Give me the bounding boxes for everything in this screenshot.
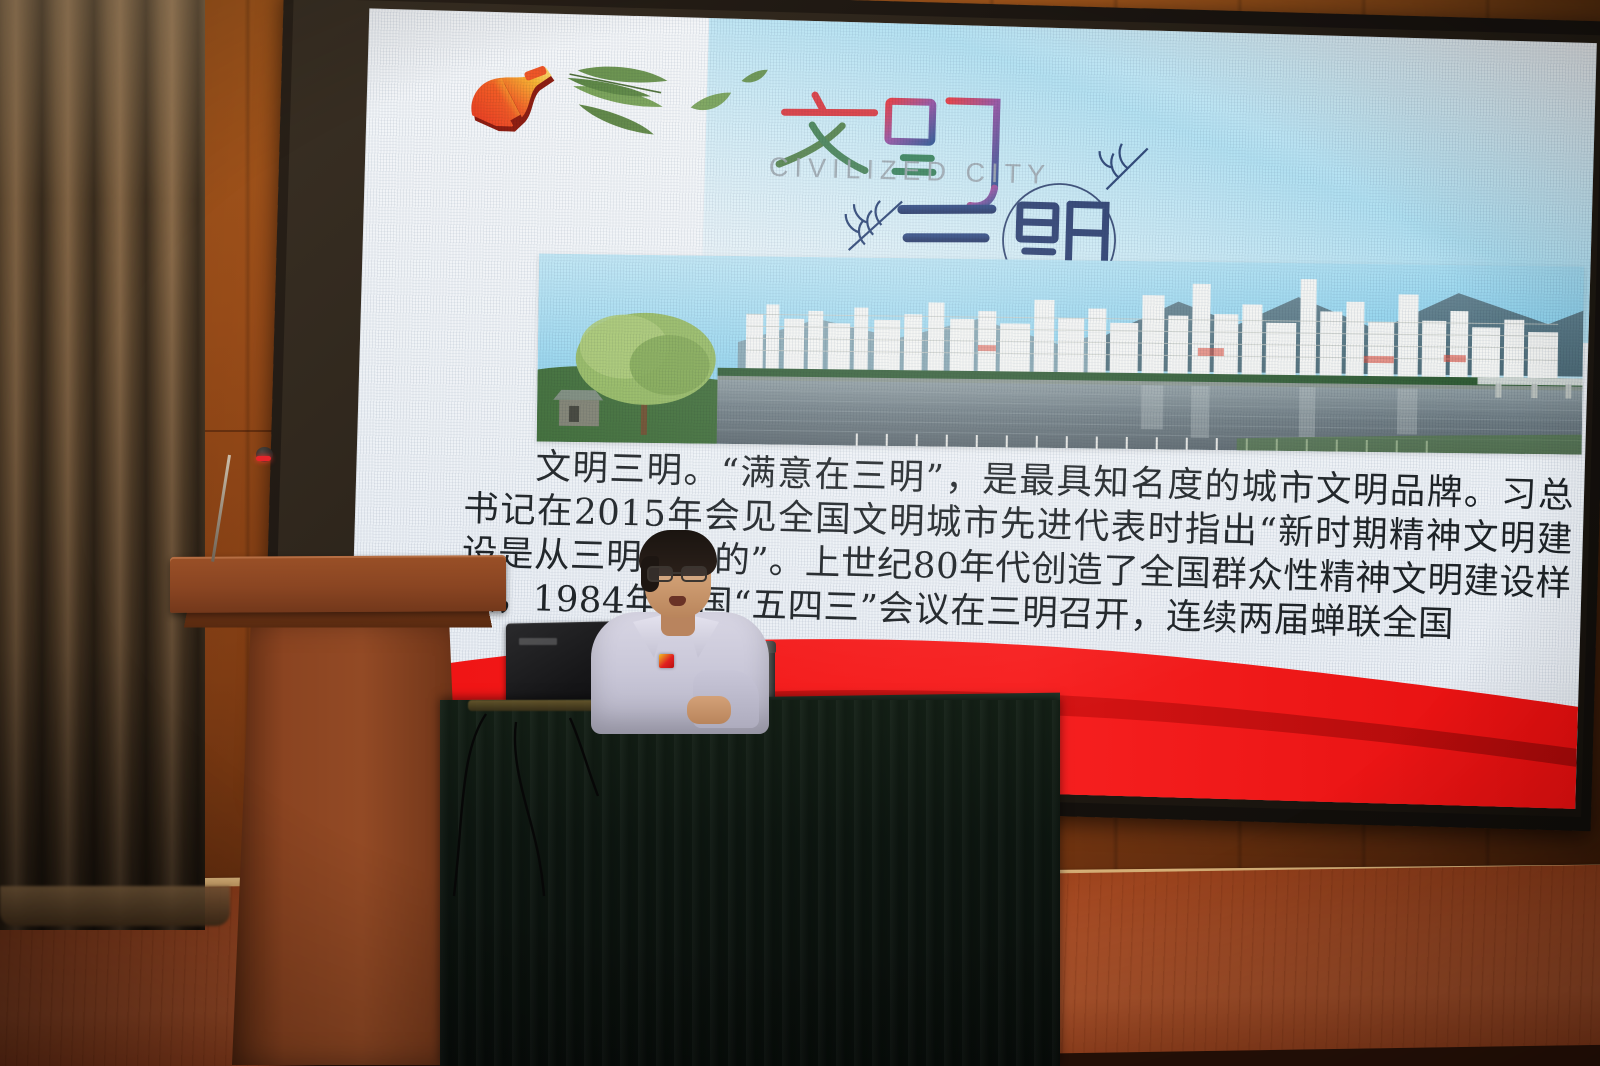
civilized-city-overlay-text: CIVILIZED CITY	[769, 152, 1052, 190]
lens-left	[647, 566, 673, 582]
lectern-top	[170, 555, 506, 613]
eyeglasses-icon	[647, 566, 709, 582]
seated-speaker	[575, 528, 785, 728]
speaker-mouth	[669, 596, 686, 606]
curtain-hem	[0, 886, 230, 926]
microphone-led-indicator	[256, 456, 271, 461]
stage-scene: CIVILIZED CITY	[0, 0, 1600, 1066]
cable-bundle	[420, 700, 700, 900]
lens-right	[681, 566, 707, 582]
ccp-hammer-sickle-emblem-icon	[462, 57, 572, 140]
stage-curtain	[0, 0, 205, 930]
city-skyline-photo	[537, 254, 1584, 455]
party-lapel-badge-icon	[659, 654, 674, 668]
laptop-brand-logo-icon	[519, 638, 557, 645]
